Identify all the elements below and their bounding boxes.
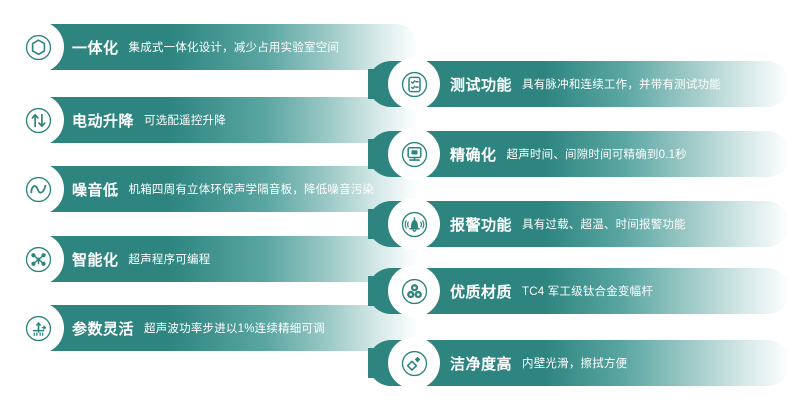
alarm-bell-icon [388, 198, 440, 250]
feature-item-left-1[interactable]: 一体化 集成式一体化设计，减少占用实验室空间 [0, 24, 418, 70]
feature-item-left-4[interactable]: 智能化 超声程序可编程 [0, 236, 418, 282]
feature-title: 报警功能 [450, 214, 512, 235]
feature-title: 参数灵活 [72, 318, 134, 339]
feature-desc: 具有脉冲和连续工作，并带有测试功能 [522, 76, 721, 92]
feature-item-right-4[interactable]: 优质材质 TC4 军工级钛合金变幅杆 [368, 268, 800, 314]
power-adjust-icon [12, 302, 64, 354]
feature-item-left-3[interactable]: 噪音低 机箱四周有立体环保声学隔音板，降低噪音污染 [0, 166, 418, 212]
feature-item-left-5[interactable]: 参数灵活 超声波功率步进以1%连续精细可调 [0, 305, 418, 351]
checklist-clipboard-icon [388, 58, 440, 110]
feature-infographic: 一体化 集成式一体化设计，减少占用实验室空间 电动升降 可选配遥控升降 [0, 0, 800, 412]
feature-text: 参数灵活 超声波功率步进以1%连续精细可调 [72, 305, 325, 351]
feature-text: 一体化 集成式一体化设计，减少占用实验室空间 [72, 24, 339, 70]
feature-title: 噪音低 [72, 179, 119, 200]
feature-desc: 机箱四周有立体环保声学隔音板，降低噪音污染 [129, 181, 375, 197]
monitor-display-icon [388, 128, 440, 180]
feature-title: 优质材质 [450, 281, 512, 302]
feature-text: 电动升降 可选配遥控升降 [72, 97, 226, 143]
feature-text: 测试功能 具有脉冲和连续工作，并带有测试功能 [450, 61, 721, 107]
feature-text: 洁净度高 内壁光滑，擦拭方便 [450, 340, 627, 386]
up-down-arrows-icon [12, 94, 64, 146]
feature-desc: 内壁光滑，擦拭方便 [522, 355, 627, 371]
feature-title: 智能化 [72, 249, 119, 270]
feature-desc: TC4 军工级钛合金变幅杆 [522, 283, 653, 299]
hexagon-icon [12, 21, 64, 73]
feature-title: 洁净度高 [450, 353, 512, 374]
feature-text: 报警功能 具有过载、超温、时间报警功能 [450, 201, 686, 247]
feature-desc: 可选配遥控升降 [144, 112, 226, 128]
feature-item-right-5[interactable]: 洁净度高 内壁光滑，擦拭方便 [368, 340, 800, 386]
network-nodes-icon [12, 233, 64, 285]
sparkle-diamonds-icon [388, 337, 440, 389]
feature-desc: 超声程序可编程 [129, 251, 211, 267]
feature-desc: 超声波功率步进以1%连续精细可调 [144, 320, 325, 336]
feature-item-right-3[interactable]: 报警功能 具有过载、超温、时间报警功能 [368, 201, 800, 247]
sound-wave-icon [12, 163, 64, 215]
feature-item-left-2[interactable]: 电动升降 可选配遥控升降 [0, 97, 418, 143]
feature-text: 优质材质 TC4 军工级钛合金变幅杆 [450, 268, 653, 314]
feature-text: 精确化 超声时间、间隙时间可精确到0.1秒 [450, 131, 687, 177]
feature-title: 电动升降 [72, 110, 134, 131]
feature-item-right-2[interactable]: 精确化 超声时间、间隙时间可精确到0.1秒 [368, 131, 800, 177]
feature-desc: 具有过载、超温、时间报警功能 [522, 216, 686, 232]
molecule-circles-icon [388, 265, 440, 317]
feature-text: 智能化 超声程序可编程 [72, 236, 210, 282]
feature-title: 精确化 [450, 144, 497, 165]
feature-desc: 超声时间、间隙时间可精确到0.1秒 [507, 146, 687, 162]
feature-text: 噪音低 机箱四周有立体环保声学隔音板，降低噪音污染 [72, 166, 374, 212]
feature-desc: 集成式一体化设计，减少占用实验室空间 [129, 39, 340, 55]
feature-title: 测试功能 [450, 74, 512, 95]
feature-item-right-1[interactable]: 测试功能 具有脉冲和连续工作，并带有测试功能 [368, 61, 800, 107]
feature-title: 一体化 [72, 37, 119, 58]
